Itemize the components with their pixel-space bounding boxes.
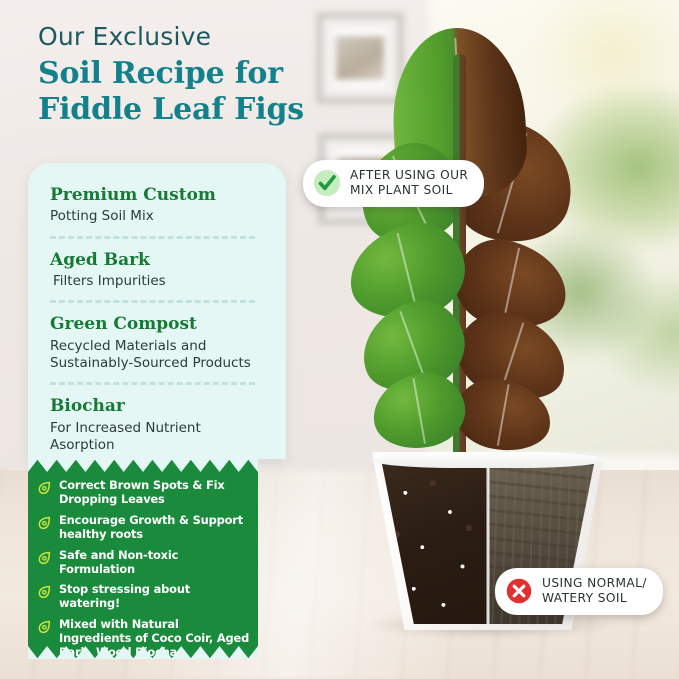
- leaf-icon: [36, 584, 52, 600]
- ingredient-item: Green Compost Recycled Materials and Sus…: [50, 314, 266, 372]
- benefits-panel: Correct Brown Spots & Fix Dropping Leave…: [28, 459, 258, 659]
- kicker-text: Our Exclusive: [38, 22, 368, 52]
- ingredient-name: Biochar: [50, 396, 266, 416]
- fiddle-leaf-fig-plant: [355, 28, 595, 488]
- ingredient-desc: Recycled Materials and Sustainably-Sourc…: [50, 338, 266, 373]
- poster: Our Exclusive Soil Recipe for Fiddle Lea…: [0, 0, 679, 679]
- page-title-line-1: Soil Recipe for: [38, 56, 368, 93]
- benefit-text: Encourage Growth & Support healthy roots: [59, 514, 254, 542]
- x-circle-icon: [505, 577, 533, 605]
- headline-block: Our Exclusive Soil Recipe for Fiddle Lea…: [38, 22, 368, 129]
- soil-divider: [487, 464, 490, 624]
- leaf-icon: [36, 550, 52, 566]
- page-title-line-2: Fiddle Leaf Figs: [38, 92, 368, 129]
- page-title: Soil Recipe for Fiddle Leaf Figs: [38, 56, 368, 129]
- ingredient-divider: [50, 236, 255, 239]
- ingredient-name: Green Compost: [50, 314, 266, 334]
- benefit-text: Safe and Non-toxic Formulation: [59, 549, 254, 577]
- ingredient-name: Premium Custom: [50, 185, 266, 205]
- leaf-icon: [36, 515, 52, 531]
- badge-after-using-our-mix: AFTER USING OUR MIX PLANT SOIL: [303, 160, 484, 207]
- leaf-icon: [36, 619, 52, 635]
- benefit-item: Stop stressing about watering!: [36, 583, 254, 611]
- zigzag-top-edge: [28, 459, 258, 472]
- benefit-item: Correct Brown Spots & Fix Dropping Leave…: [36, 479, 254, 507]
- badge-using-normal-watery-soil: USING NORMAL/ WATERY SOIL: [495, 568, 663, 615]
- benefits-list: Correct Brown Spots & Fix Dropping Leave…: [36, 479, 254, 667]
- ingredient-desc: Potting Soil Mix: [50, 208, 266, 225]
- ingredient-divider: [50, 382, 255, 385]
- ingredient-desc: For Increased Nutrient Asorption: [50, 420, 266, 455]
- ingredient-item: Biochar For Increased Nutrient Asorption: [50, 396, 266, 454]
- badge-text: AFTER USING OUR MIX PLANT SOIL: [350, 168, 468, 199]
- ingredient-desc: Filters Impurities: [50, 273, 266, 290]
- ingredient-item: Premium Custom Potting Soil Mix: [50, 185, 266, 226]
- pot-rim: [372, 452, 604, 468]
- ingredient-divider: [50, 300, 255, 303]
- benefit-text: Correct Brown Spots & Fix Dropping Leave…: [59, 479, 254, 507]
- benefit-item: Safe and Non-toxic Formulation: [36, 549, 254, 577]
- ingredient-item: Aged Bark Filters Impurities: [50, 250, 266, 291]
- badge-text: USING NORMAL/ WATERY SOIL: [542, 576, 647, 607]
- benefit-text: Stop stressing about watering!: [59, 583, 254, 611]
- benefit-item: Encourage Growth & Support healthy roots: [36, 514, 254, 542]
- ingredient-name: Aged Bark: [50, 250, 266, 270]
- leaf-icon: [36, 480, 52, 496]
- ingredients-card: Premium Custom Potting Soil Mix Aged Bar…: [28, 163, 286, 459]
- check-circle-icon: [313, 169, 341, 197]
